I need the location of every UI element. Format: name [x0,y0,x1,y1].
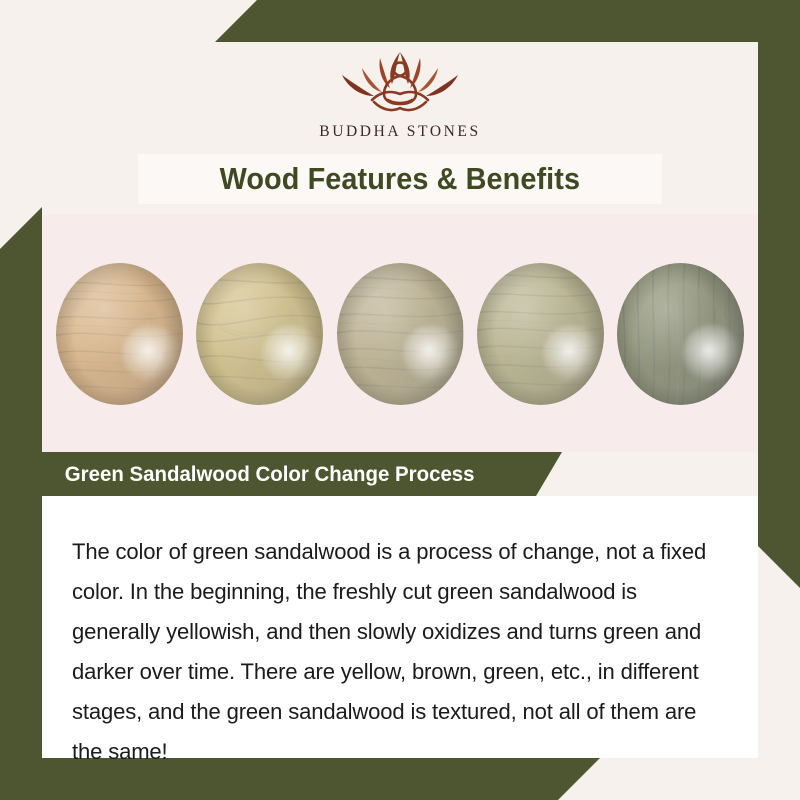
bead-stage-1-yellow-tan [56,263,183,405]
bead-shading [617,263,744,405]
frame-band-left [0,207,42,758]
poster-sheet: BUDDHA STONES Wood Features & Benefits [42,42,758,758]
bead-stage-4-olive-green [477,263,604,405]
page-title: Wood Features & Benefits [220,161,581,197]
bead-stage-3-olive-grey [337,263,464,405]
bead-stage-5-dark-green [617,263,744,405]
section-banner-label: Green Sandalwood Color Change Process [42,462,475,487]
section-banner: Green Sandalwood Color Change Process [42,452,562,496]
bead-shading [337,263,464,405]
body-paragraph: The color of green sandalwood is a proce… [72,532,718,772]
bead-stage-2-yellow-green [196,263,323,405]
bead-shading [56,263,183,405]
brand-logo-block: BUDDHA STONES [42,42,758,152]
bead-shading [477,263,604,405]
frame-band-right [758,42,800,588]
brand-name: BUDDHA STONES [319,123,480,141]
page-title-band: Wood Features & Benefits [138,154,662,204]
frame-band-top [215,0,800,42]
lotus-meditation-icon [310,44,490,122]
infographic-poster: BUDDHA STONES Wood Features & Benefits [0,0,800,800]
bead-shading [196,263,323,405]
body-card: The color of green sandalwood is a proce… [42,496,758,758]
bead-gallery [42,215,758,452]
